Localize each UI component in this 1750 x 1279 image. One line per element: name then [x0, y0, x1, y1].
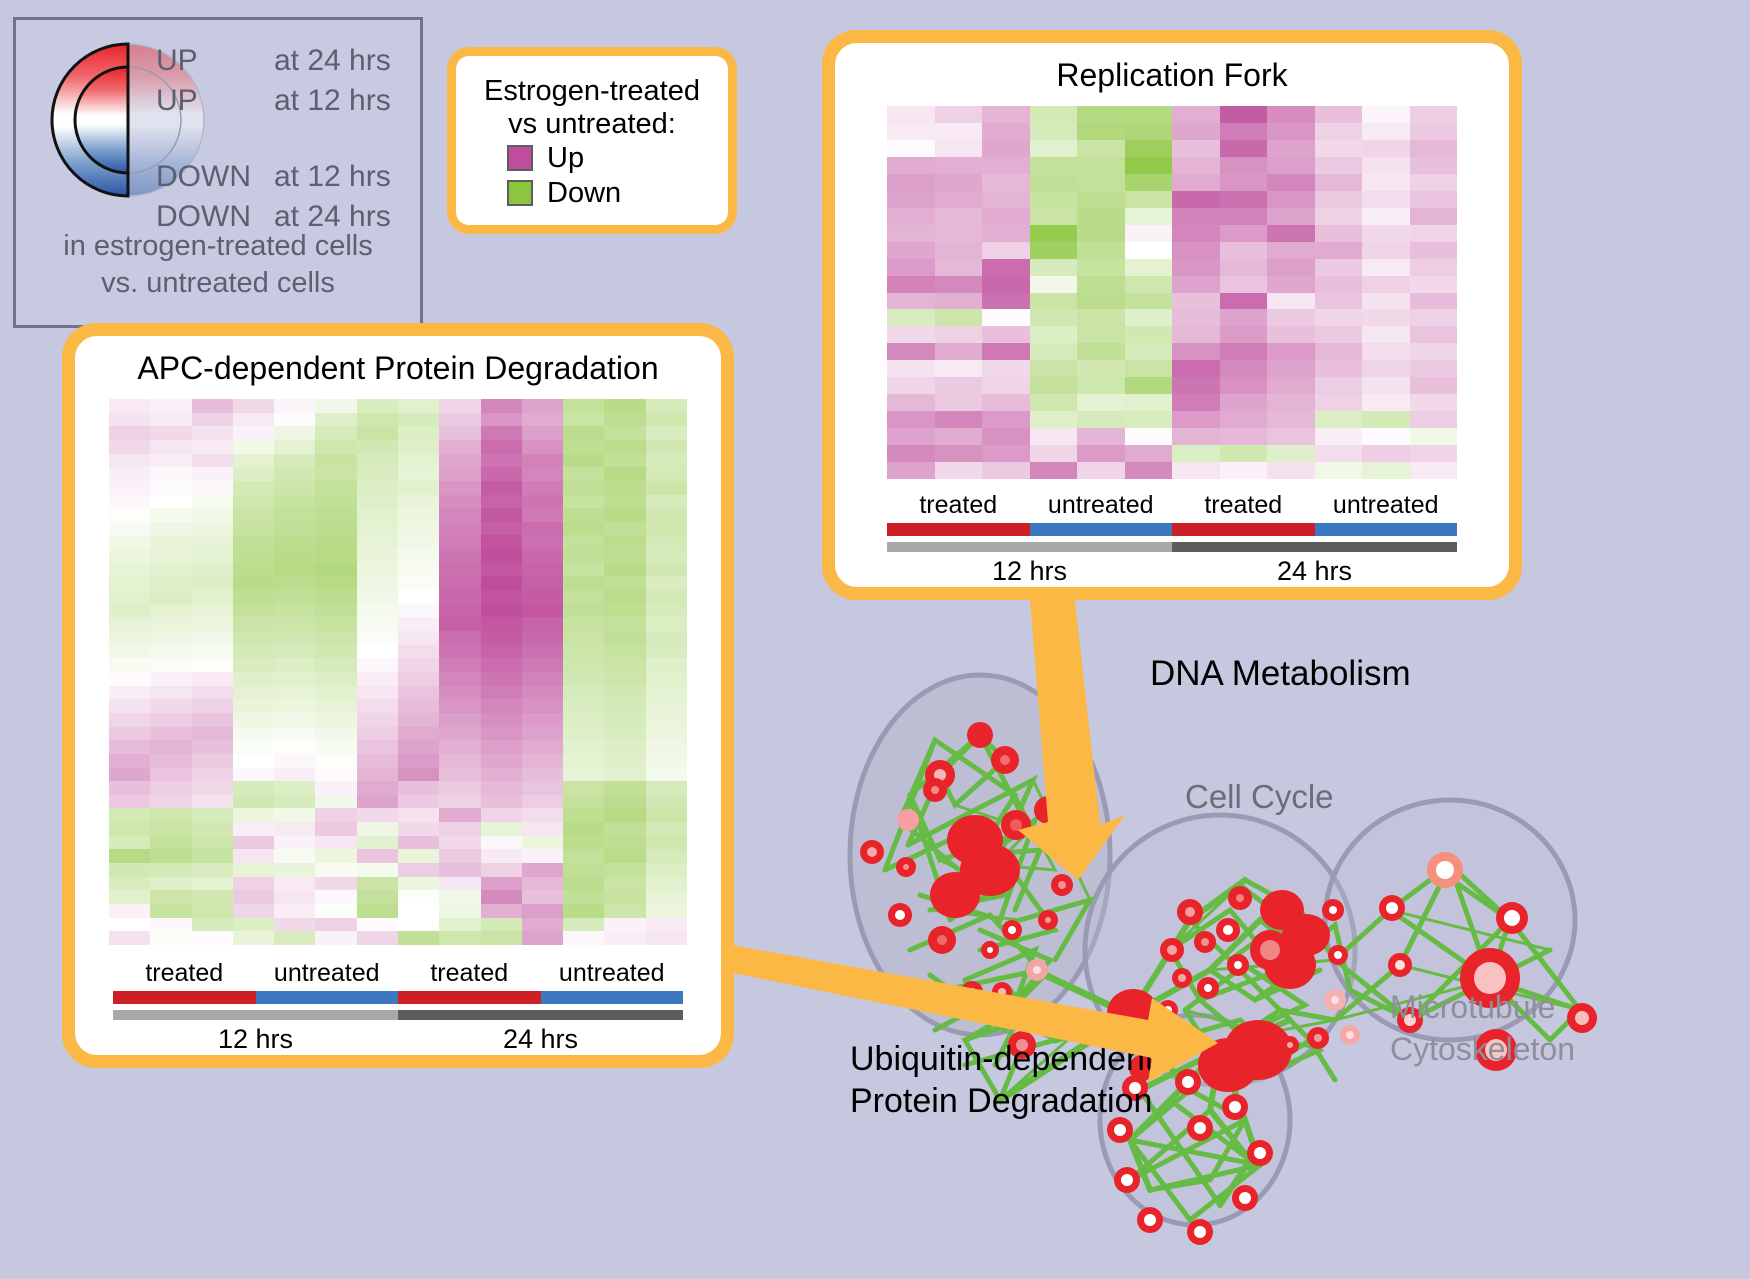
heatmap-cell	[398, 754, 439, 768]
cluster-label-cell-cycle: Cell Cycle	[1185, 778, 1334, 815]
heatmap-cell	[522, 604, 563, 618]
heatmap-cell	[481, 413, 522, 427]
heatmap-cell	[398, 590, 439, 604]
heatmap-cell	[357, 849, 398, 863]
heatmap-cell	[439, 399, 480, 413]
heatmap-cell	[1315, 225, 1363, 242]
heatmap-cell	[1077, 462, 1125, 479]
heatmap-cell	[646, 931, 687, 945]
heatmap-cell	[439, 754, 480, 768]
network-node	[1034, 796, 1062, 824]
heatmap-cell	[109, 918, 150, 932]
treatment-bar-segment	[256, 991, 399, 1004]
heatmap-cell	[1220, 360, 1268, 377]
heatmap-cell	[1315, 140, 1363, 157]
heatmap-cell	[1220, 462, 1268, 479]
heatmap-cell	[604, 727, 645, 741]
heatmap-cell	[604, 931, 645, 945]
heatmap-cell	[1362, 360, 1410, 377]
network-node	[1038, 910, 1058, 930]
heatmap-cell	[563, 576, 604, 590]
heatmap-cell	[357, 495, 398, 509]
heatmap-cell	[1410, 225, 1458, 242]
heatmap-cell	[233, 495, 274, 509]
heatmap-cell	[315, 890, 356, 904]
panel-replication-fork: Replication Fork treated untreated treat…	[822, 30, 1522, 600]
heatmap-cell	[481, 631, 522, 645]
legend-label-up: Up	[547, 142, 584, 175]
heatmap-cell	[1077, 276, 1125, 293]
network-node	[1002, 920, 1022, 940]
heatmap-cell	[192, 713, 233, 727]
heatmap-cell	[646, 672, 687, 686]
heatmap-cell	[982, 326, 1030, 343]
heatmap-cell	[935, 445, 983, 462]
timepoint-labels: 12 hrs 24 hrs	[887, 556, 1457, 587]
heatmap-cell	[522, 522, 563, 536]
heatmap-cell	[481, 795, 522, 809]
heatmap-cell	[1030, 242, 1078, 259]
heatmap-cell	[274, 522, 315, 536]
heatmap-cell	[439, 740, 480, 754]
heatmap-cell	[192, 535, 233, 549]
heatmap-cell	[481, 454, 522, 468]
heatmap-cell	[192, 931, 233, 945]
heatmap-cell	[315, 918, 356, 932]
heatmap-cell	[398, 535, 439, 549]
heatmap-cell	[1362, 394, 1410, 411]
heatmap-cell	[1125, 140, 1173, 157]
heatmap-cell	[150, 713, 191, 727]
heatmap-cell	[1362, 259, 1410, 276]
heatmap-cell	[522, 795, 563, 809]
heatmap-cell	[357, 413, 398, 427]
heatmap-cell	[982, 140, 1030, 157]
heatmap-cell	[1220, 259, 1268, 276]
heatmap-cell	[315, 699, 356, 713]
heatmap-cell	[646, 699, 687, 713]
heatmap-cell	[1410, 174, 1458, 191]
heatmap-cell	[481, 849, 522, 863]
heatmap-cell	[1315, 411, 1363, 428]
heatmap-cell	[1077, 174, 1125, 191]
heatmap-cell	[1030, 360, 1078, 377]
heatmap-cell	[357, 808, 398, 822]
heatmap-cell	[1125, 276, 1173, 293]
heatmap-cell	[150, 781, 191, 795]
heatmap-cell	[1077, 208, 1125, 225]
heatmap-cell	[192, 904, 233, 918]
heatmap-cell	[109, 672, 150, 686]
heatmap-cell	[563, 904, 604, 918]
sample-group-label: treated	[113, 959, 256, 988]
color-key-direction: DOWN	[156, 160, 274, 194]
network-node	[1051, 874, 1073, 896]
heatmap-cell	[646, 740, 687, 754]
heatmap-cell	[233, 535, 274, 549]
heatmap-cell	[1077, 377, 1125, 394]
heatmap-cell	[935, 191, 983, 208]
heatmap-cell	[1362, 225, 1410, 242]
treatment-bar-segment	[1172, 523, 1315, 536]
heatmap-cell	[522, 727, 563, 741]
heatmap-cell	[522, 904, 563, 918]
heatmap-cell	[233, 754, 274, 768]
heatmap-cell	[315, 904, 356, 918]
heatmap-cell	[109, 590, 150, 604]
heatmap-cell	[439, 808, 480, 822]
heatmap-cell	[398, 522, 439, 536]
heatmap-cell	[604, 822, 645, 836]
heatmap-cell	[357, 440, 398, 454]
heatmap-cell	[646, 631, 687, 645]
heatmap-cell	[109, 808, 150, 822]
heatmap-cell	[439, 508, 480, 522]
heatmap-cell	[646, 535, 687, 549]
heatmap-cell	[233, 522, 274, 536]
heatmap-cell	[233, 631, 274, 645]
heatmap-cell	[1315, 343, 1363, 360]
heatmap-cell	[274, 535, 315, 549]
heatmap-cell	[398, 686, 439, 700]
heatmap-cell	[233, 890, 274, 904]
heatmap-cell	[315, 631, 356, 645]
treatment-bar-segment	[1315, 523, 1458, 536]
heatmap-cell	[935, 343, 983, 360]
heatmap-cell	[1362, 343, 1410, 360]
heatmap-cell	[1410, 123, 1458, 140]
color-key-footer-line1: in estrogen-treated cells	[16, 228, 420, 265]
network-node	[1107, 1117, 1133, 1143]
panel-title: Replication Fork	[1056, 57, 1287, 94]
heatmap-cell	[1315, 242, 1363, 259]
heatmap-cell	[1362, 191, 1410, 208]
heatmap-cell	[646, 877, 687, 891]
heatmap-cell	[357, 754, 398, 768]
heatmap-cell	[1362, 326, 1410, 343]
heatmap-cell	[1077, 343, 1125, 360]
heatmap-cell	[192, 699, 233, 713]
heatmap-cell	[1125, 293, 1173, 310]
heatmap-cell	[604, 563, 645, 577]
heatmap-cell	[439, 576, 480, 590]
heatmap-cell	[604, 672, 645, 686]
heatmap-cell	[604, 768, 645, 782]
heatmap-cell	[1172, 191, 1220, 208]
network-node	[1172, 968, 1192, 988]
heatmap-cell	[274, 877, 315, 891]
heatmap-cell	[604, 713, 645, 727]
heatmap-cell	[274, 713, 315, 727]
heatmap-cell	[982, 394, 1030, 411]
heatmap-cell	[481, 890, 522, 904]
heatmap-cell	[233, 399, 274, 413]
sample-group-labels: treated untreated treated untreated	[887, 491, 1457, 520]
heatmap-cell	[646, 754, 687, 768]
heatmap-cell	[357, 727, 398, 741]
heatmap-cell	[1030, 106, 1078, 123]
heatmap-cell	[1125, 106, 1173, 123]
heatmap-cell	[150, 768, 191, 782]
heatmap-cell	[982, 360, 1030, 377]
network-node	[1177, 899, 1203, 925]
heatmap-cell	[1362, 293, 1410, 310]
heatmap-cell	[150, 549, 191, 563]
heatmap-cell	[522, 440, 563, 454]
heatmap-cell	[109, 426, 150, 440]
heatmap-cell	[398, 931, 439, 945]
heatmap-cell	[274, 454, 315, 468]
heatmap-cell	[398, 467, 439, 481]
heatmap-cell	[109, 508, 150, 522]
heatmap-cell	[150, 576, 191, 590]
heatmap-cell	[192, 399, 233, 413]
heatmap-cell	[522, 877, 563, 891]
heatmap-cell	[935, 360, 983, 377]
heatmap-cell	[274, 890, 315, 904]
heatmap-cell	[1077, 309, 1125, 326]
heatmap-cell	[604, 863, 645, 877]
legend-item-up: Up	[507, 142, 677, 175]
heatmap-cell	[1077, 123, 1125, 140]
heatmap-cell	[481, 822, 522, 836]
heatmap-cell	[481, 877, 522, 891]
heatmap-cell	[604, 535, 645, 549]
heatmap-cell	[1172, 259, 1220, 276]
heatmap-cell	[563, 413, 604, 427]
heatmap-cell	[563, 754, 604, 768]
heatmap-cell	[604, 495, 645, 509]
heatmap-cell	[1030, 428, 1078, 445]
heatmap-cell	[398, 727, 439, 741]
heatmap-cell	[398, 672, 439, 686]
heatmap-cell	[192, 440, 233, 454]
network-node	[1197, 977, 1219, 999]
network-node	[1194, 931, 1216, 953]
heatmap-cell	[563, 863, 604, 877]
heatmap-cell	[563, 535, 604, 549]
heatmap-cell	[1362, 411, 1410, 428]
heatmap-cell	[887, 462, 935, 479]
heatmap-cell	[1362, 208, 1410, 225]
heatmap-cell	[398, 781, 439, 795]
heatmap-cell	[1410, 157, 1458, 174]
figure-canvas: UP at 24 hrs UP at 12 hrs DOWN at 12 hrs…	[0, 0, 1750, 1279]
heatmap-cell	[1030, 208, 1078, 225]
heatmap-cell	[150, 836, 191, 850]
heatmap-cell	[887, 343, 935, 360]
heatmap-cell	[1077, 225, 1125, 242]
heatmap-cell	[1267, 106, 1315, 123]
network-node	[1340, 1025, 1360, 1045]
heatmap-cell	[398, 877, 439, 891]
heatmap-cell	[233, 727, 274, 741]
treatment-bar-segment	[113, 991, 256, 1004]
heatmap-cell	[1030, 343, 1078, 360]
heatmap-cell	[1172, 411, 1220, 428]
heatmap-cell	[150, 808, 191, 822]
legend-label-down: Down	[547, 177, 621, 210]
heatmap-cell	[982, 242, 1030, 259]
heatmap-cell	[150, 399, 191, 413]
heatmap-cell	[1410, 394, 1458, 411]
heatmap-cell	[1315, 462, 1363, 479]
heatmap-cell	[646, 576, 687, 590]
heatmap-cell	[1315, 360, 1363, 377]
heatmap-cell	[109, 768, 150, 782]
heatmap-cell	[398, 549, 439, 563]
heatmap-cell	[1220, 208, 1268, 225]
heatmap-cell	[481, 467, 522, 481]
heatmap-cell	[563, 877, 604, 891]
heatmap-cell	[398, 863, 439, 877]
heatmap-cell	[522, 495, 563, 509]
heatmap-cell	[522, 399, 563, 413]
heatmap-cell	[481, 863, 522, 877]
heatmap-cell	[357, 399, 398, 413]
legend-swatch-down	[507, 180, 533, 206]
timepoint-label: 12 hrs	[113, 1024, 398, 1055]
heatmap-cell	[439, 863, 480, 877]
heatmap-cell	[481, 399, 522, 413]
heatmap-cell	[522, 590, 563, 604]
heatmap-cell	[357, 781, 398, 795]
heatmap-cell	[398, 508, 439, 522]
heatmap-cell	[481, 904, 522, 918]
heatmap-cell	[315, 931, 356, 945]
heatmap-cell	[646, 426, 687, 440]
network-node	[1328, 945, 1348, 965]
heatmap-cell	[481, 645, 522, 659]
heatmap-cell	[150, 522, 191, 536]
heatmap-cell	[563, 645, 604, 659]
heatmap-cell	[357, 617, 398, 631]
heatmap-cell	[1125, 174, 1173, 191]
heatmap-cell	[192, 467, 233, 481]
heatmap-cell	[522, 713, 563, 727]
heatmap-cell	[935, 411, 983, 428]
heatmap-cell	[192, 781, 233, 795]
heatmap-cell	[887, 411, 935, 428]
heatmap-cell	[109, 535, 150, 549]
heatmap-cell	[109, 576, 150, 590]
heatmap-cell	[1030, 411, 1078, 428]
heatmap-cell	[150, 590, 191, 604]
heatmap-cell	[522, 781, 563, 795]
heatmap-cell	[192, 740, 233, 754]
network-node	[888, 903, 912, 927]
heatmap-cell	[563, 467, 604, 481]
heatmap-cell	[1172, 140, 1220, 157]
network-node	[1172, 1025, 1192, 1045]
legend-swatch-up	[507, 145, 533, 171]
heatmap-cell	[109, 822, 150, 836]
sample-group-label: untreated	[541, 959, 684, 988]
heatmap-cell	[481, 440, 522, 454]
heatmap-cell	[192, 795, 233, 809]
heatmap-cell	[646, 795, 687, 809]
heatmap-cell	[357, 604, 398, 618]
heatmap-cell	[982, 445, 1030, 462]
heatmap-cell	[398, 399, 439, 413]
heatmap-cell	[274, 440, 315, 454]
heatmap-cell	[604, 590, 645, 604]
heatmap-cell	[274, 413, 315, 427]
heatmap-cell	[398, 426, 439, 440]
heatmap-cell	[1220, 293, 1268, 310]
heatmap-cell	[439, 795, 480, 809]
heatmap-cell	[646, 781, 687, 795]
heatmap-cell	[1030, 157, 1078, 174]
heatmap-cell	[274, 645, 315, 659]
heatmap-cell	[109, 413, 150, 427]
heatmap-cell	[398, 795, 439, 809]
heatmap-cell	[233, 713, 274, 727]
heatmap-legend-card: Estrogen-treated vs untreated: Up Down	[447, 47, 737, 234]
heatmap-cell	[887, 293, 935, 310]
heatmap-cell	[357, 454, 398, 468]
heatmap-cell	[1410, 377, 1458, 394]
heatmap-cell	[274, 686, 315, 700]
heatmap-cell	[398, 890, 439, 904]
heatmap-cell	[274, 604, 315, 618]
sample-annotation-replication: treated untreated treated untreated 12 h	[887, 491, 1457, 587]
heatmap-cell	[563, 631, 604, 645]
heatmap-cell	[1315, 445, 1363, 462]
heatmap-cell	[150, 658, 191, 672]
heatmap-cell	[439, 481, 480, 495]
heatmap-cell	[481, 481, 522, 495]
heatmap-cell	[398, 822, 439, 836]
heatmap-cell	[398, 454, 439, 468]
panel-apc-degradation: APC-dependent Protein Degradation treate…	[62, 323, 734, 1068]
heatmap-cell	[150, 467, 191, 481]
heatmap-cell	[357, 822, 398, 836]
heatmap-cell	[233, 658, 274, 672]
heatmap-cell	[274, 426, 315, 440]
heatmap-cell	[935, 174, 983, 191]
heatmap-cell	[1220, 394, 1268, 411]
heatmap-cell	[1410, 360, 1458, 377]
heatmap-cell	[439, 522, 480, 536]
heatmap-cell	[604, 740, 645, 754]
heatmap-cell	[1030, 174, 1078, 191]
heatmap-cell	[357, 426, 398, 440]
heatmap-cell	[109, 754, 150, 768]
heatmap-cell	[357, 658, 398, 672]
legend-item-down: Down	[507, 177, 677, 210]
heatmap-cell	[274, 508, 315, 522]
heatmap-cell	[315, 576, 356, 590]
heatmap-cell	[481, 508, 522, 522]
heatmap-cell	[1267, 174, 1315, 191]
heatmap-cell	[1030, 394, 1078, 411]
heatmap-cell	[192, 576, 233, 590]
heatmap-cell	[1125, 428, 1173, 445]
heatmap-cell	[315, 535, 356, 549]
network-node	[1137, 1207, 1163, 1233]
heatmap-cell	[935, 208, 983, 225]
heatmap-cell	[398, 576, 439, 590]
network-node	[923, 778, 947, 802]
heatmap-cell	[982, 123, 1030, 140]
heatmap-cell	[1030, 259, 1078, 276]
heatmap-cell	[1267, 428, 1315, 445]
heatmap-cell	[109, 454, 150, 468]
heatmap-cell	[439, 918, 480, 932]
color-key-footer-line2: vs. untreated cells	[16, 265, 420, 302]
treatment-color-bar	[113, 991, 683, 1004]
